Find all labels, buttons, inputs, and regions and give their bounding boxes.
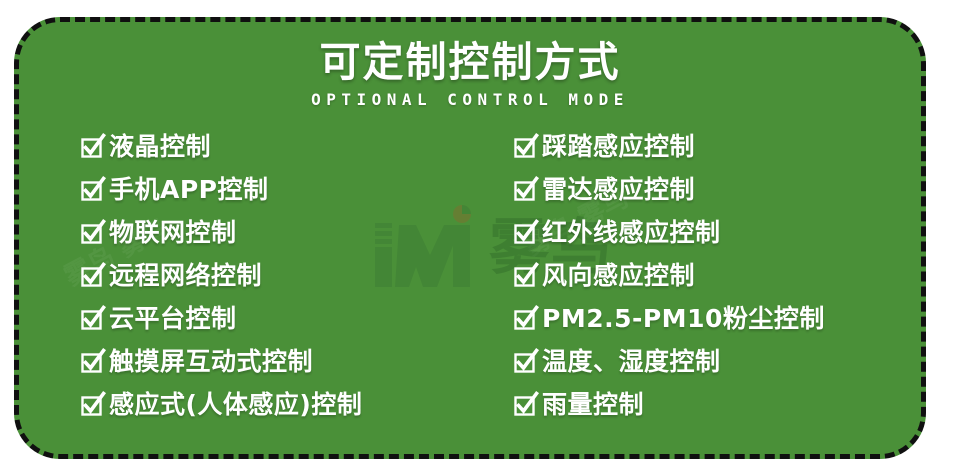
list-item-label: 雨量控制 — [542, 392, 644, 417]
feature-columns: 液晶控制 手机APP控制 物联网控制 — [19, 125, 921, 426]
list-item: 云平台控制 — [81, 297, 470, 340]
checked-box-icon — [81, 179, 103, 201]
list-item-label: 物联网控制 — [109, 220, 237, 245]
feature-column-right: 踩踏感应控制 雷达感应控制 红外线感应控制 — [470, 125, 921, 426]
list-item-label: 远程网络控制 — [109, 263, 262, 288]
checked-box-icon — [81, 394, 103, 416]
checked-box-icon — [81, 265, 103, 287]
checked-box-icon — [514, 265, 536, 287]
list-item: 物联网控制 — [81, 211, 470, 254]
checked-box-icon — [514, 136, 536, 158]
feature-column-left: 液晶控制 手机APP控制 物联网控制 — [19, 125, 470, 426]
poster-root: 雾鸟 雾鸟 雾鸟 雾鸟 雾鸟 — [0, 0, 956, 476]
checked-box-icon — [81, 222, 103, 244]
list-item: 触摸屏互动式控制 — [81, 340, 470, 383]
list-item: 液晶控制 — [81, 125, 470, 168]
checked-box-icon — [81, 136, 103, 158]
list-item-label: 云平台控制 — [109, 306, 237, 331]
checked-box-icon — [514, 394, 536, 416]
list-item: 远程网络控制 — [81, 254, 470, 297]
list-item: 红外线感应控制 — [514, 211, 921, 254]
checked-box-icon — [514, 222, 536, 244]
list-item-label: 感应式(人体感应)控制 — [109, 392, 362, 417]
list-item-label: PM2.5-PM10粉尘控制 — [542, 306, 825, 331]
checked-box-icon — [514, 351, 536, 373]
list-item: 风向感应控制 — [514, 254, 921, 297]
list-item-label: 液晶控制 — [109, 134, 211, 159]
list-item-label: 踩踏感应控制 — [542, 134, 695, 159]
list-item-label: 雷达感应控制 — [542, 177, 695, 202]
checked-box-icon — [81, 308, 103, 330]
list-item: 踩踏感应控制 — [514, 125, 921, 168]
page-subtitle: OPTIONAL CONTROL MODE — [19, 90, 921, 109]
list-item: 感应式(人体感应)控制 — [81, 383, 470, 426]
green-panel: 雾鸟 雾鸟 雾鸟 雾鸟 雾鸟 — [14, 17, 926, 459]
header: 可定制控制方式 OPTIONAL CONTROL MODE — [19, 22, 921, 109]
list-item: PM2.5-PM10粉尘控制 — [514, 297, 921, 340]
list-item-label: 风向感应控制 — [542, 263, 695, 288]
list-item-label: 红外线感应控制 — [542, 220, 721, 245]
checked-box-icon — [514, 179, 536, 201]
list-item-label: 温度、湿度控制 — [542, 349, 721, 374]
checked-box-icon — [81, 351, 103, 373]
list-item-label: 手机APP控制 — [109, 177, 269, 202]
list-item: 雷达感应控制 — [514, 168, 921, 211]
list-item: 手机APP控制 — [81, 168, 470, 211]
checked-box-icon — [514, 308, 536, 330]
list-item: 温度、湿度控制 — [514, 340, 921, 383]
page-title: 可定制控制方式 — [19, 39, 921, 86]
list-item-label: 触摸屏互动式控制 — [109, 349, 313, 374]
list-item: 雨量控制 — [514, 383, 921, 426]
